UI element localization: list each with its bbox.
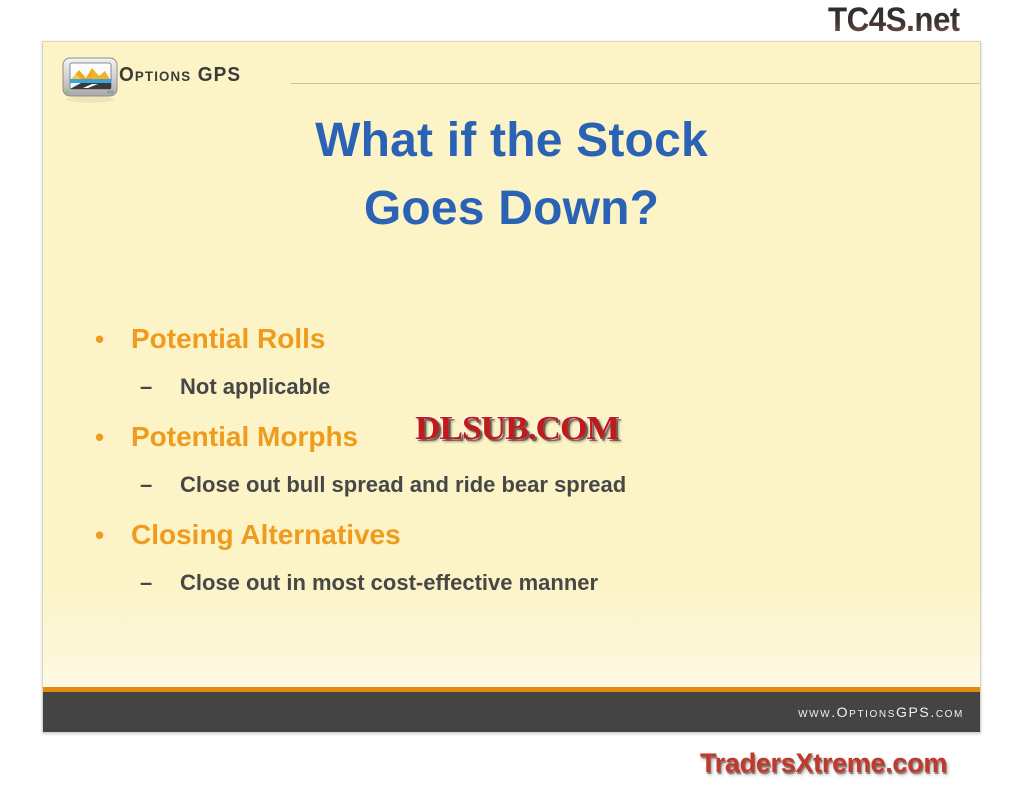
slide-title-line1: What if the Stock bbox=[43, 107, 980, 175]
bullet-level2-label: Not applicable bbox=[180, 364, 330, 410]
slide-title-line2: Goes Down? bbox=[43, 175, 980, 243]
bullet-level1-label: Closing Alternatives bbox=[131, 510, 401, 560]
footer-url: www.OptionsGPS.com bbox=[798, 704, 964, 720]
dash-marker-icon: – bbox=[140, 560, 180, 606]
bullet-group: • Closing Alternatives – Close out in mo… bbox=[95, 510, 955, 606]
slide-header: Options GPS bbox=[43, 42, 980, 104]
bullet-level2-label: Close out in most cost-effective manner bbox=[180, 560, 598, 606]
bullet-level2: – Close out in most cost-effective manne… bbox=[95, 560, 955, 606]
slide-footer: www.OptionsGPS.com bbox=[43, 692, 980, 732]
header-divider bbox=[291, 83, 980, 84]
tradersxtreme-watermark: TradersXtreme.com bbox=[700, 748, 947, 779]
gps-device-icon bbox=[61, 55, 121, 103]
bullet-level1-label: Potential Rolls bbox=[131, 314, 325, 364]
bullet-level1: • Potential Rolls bbox=[95, 314, 955, 364]
bullet-level1: • Closing Alternatives bbox=[95, 510, 955, 560]
slide-body: • Potential Rolls – Not applicable • Pot… bbox=[95, 314, 955, 608]
slide-title: What if the Stock Goes Down? bbox=[43, 107, 980, 243]
bullet-level1-label: Potential Morphs bbox=[131, 412, 358, 462]
tc4s-watermark-text: TC4S.net bbox=[828, 1, 960, 40]
bullet-marker-icon: • bbox=[95, 510, 131, 560]
bullet-group: • Potential Rolls – Not applicable bbox=[95, 314, 955, 410]
dlsub-watermark: DLSUB.COM bbox=[415, 410, 619, 448]
bullet-level2: – Close out bull spread and ride bear sp… bbox=[95, 462, 955, 508]
brand-name: Options GPS bbox=[119, 64, 241, 87]
dash-marker-icon: – bbox=[140, 462, 180, 508]
dash-marker-icon: – bbox=[140, 364, 180, 410]
bullet-level2-label: Close out bull spread and ride bear spre… bbox=[180, 462, 626, 508]
bullet-marker-icon: • bbox=[95, 412, 131, 462]
bullet-marker-icon: • bbox=[95, 314, 131, 364]
tc4s-watermark: TC4S.net bbox=[828, 0, 1024, 40]
bullet-level2: – Not applicable bbox=[95, 364, 955, 410]
presentation-slide: Options GPS What if the Stock Goes Down?… bbox=[42, 41, 981, 733]
